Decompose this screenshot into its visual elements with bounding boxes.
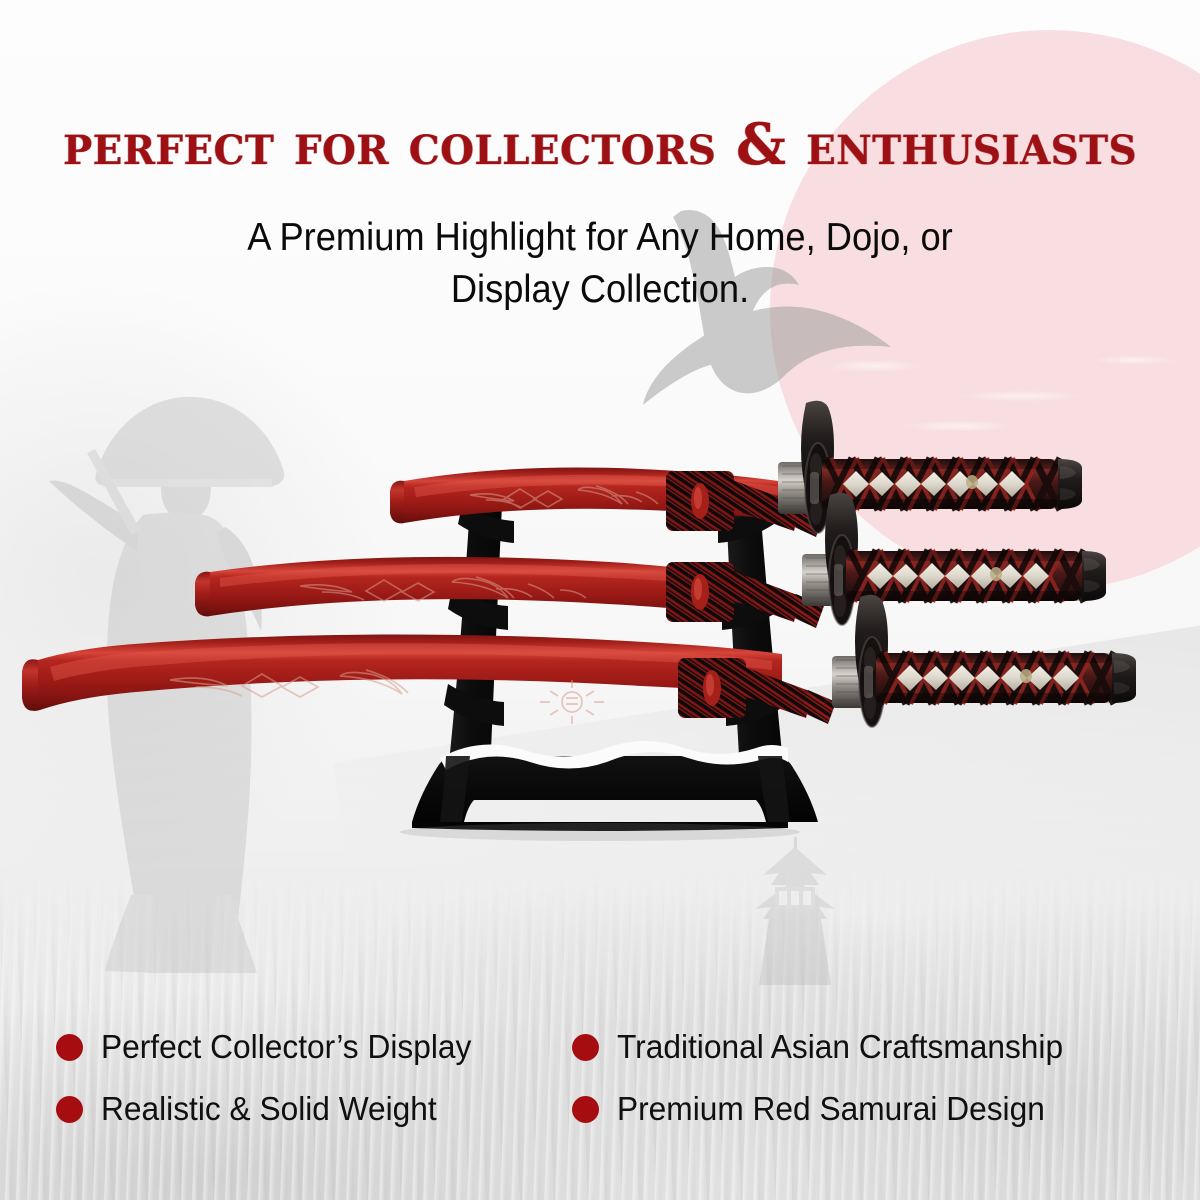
feature-label: Realistic & Solid Weight — [101, 1090, 437, 1128]
bullet-dot-icon — [572, 1034, 599, 1061]
feature-item-collectors-display: Perfect Collector’s Display — [56, 1028, 572, 1066]
feature-label: Traditional Asian Craftsmanship — [617, 1028, 1063, 1066]
feature-item-solid-weight: Realistic & Solid Weight — [56, 1090, 572, 1128]
feature-item-asian-craftsmanship: Traditional Asian Craftsmanship — [572, 1028, 1166, 1066]
sword-bottom — [22, 595, 1136, 727]
bullet-dot-icon — [56, 1096, 83, 1123]
bullet-dot-icon — [56, 1034, 83, 1061]
feature-label: Perfect Collector’s Display — [101, 1028, 471, 1066]
marketing-banner: Perfect for Collectors & Enthusiasts A P… — [0, 0, 1200, 1200]
feature-item-red-samurai-design: Premium Red Samurai Design — [572, 1090, 1166, 1128]
feature-label: Premium Red Samurai Design — [617, 1090, 1045, 1128]
feature-list: Perfect Collector’s Display Traditional … — [56, 1016, 1166, 1140]
bullet-dot-icon — [572, 1096, 599, 1123]
sword-middle — [195, 493, 1106, 628]
stand-base — [412, 741, 818, 831]
